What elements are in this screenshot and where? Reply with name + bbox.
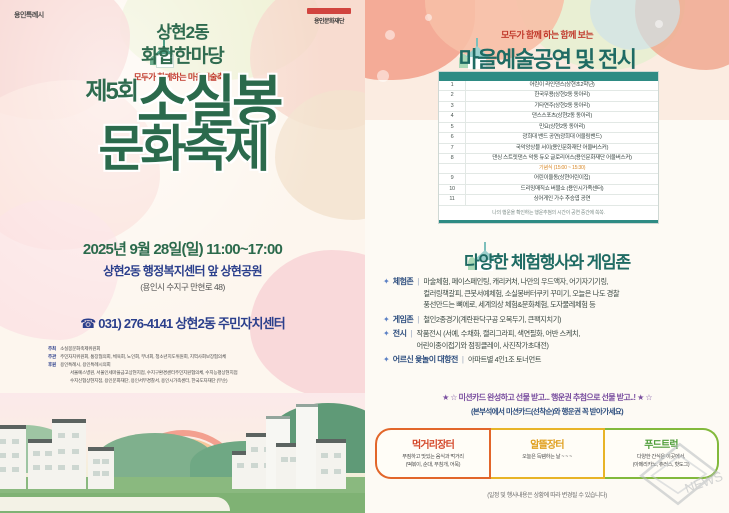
program-table: 1어린이 라인댄스(상현초2학년) 2한국무용(상현2동 동아리) 3기타연주(…	[438, 71, 659, 224]
banner-flea-market: 알뜰장터 오늘은 득템하는 날 ~ ~ ~	[491, 428, 605, 479]
list-item: ✦ 게임존 | 철인2종경기(계란판닥구공 오목두기, 큰팩지치기)	[383, 314, 717, 326]
section-title-experience: 다양한 체험행사와 게임존	[365, 248, 729, 273]
list-item: ✦ 체험존 | 마술체험, 페이스페인팅, 캐리커처, 나만의 우드액자, 어기…	[383, 276, 717, 311]
credit-row: 후원용인특례시, 용인특례시의회	[48, 361, 338, 369]
event-address: (용인시 수지구 만현로 48)	[0, 281, 365, 293]
credit-extra-line: 수지신협상현지점, 용인문화재단, 용인서부경찰서, 용인시가족센터, 한국도자…	[70, 377, 338, 385]
left-subtitle-line2: 화합한마당	[0, 41, 365, 68]
credit-extra-line: 서울예스병원, 서울인세마을금고상현지점, 수지구환경센터주민지원협의체, 수지…	[70, 369, 338, 377]
event-place: 상현2동 행정복지센터 앞 상현공원	[0, 262, 365, 279]
table-row: 9어린이율동(상현어린이집)	[439, 174, 658, 184]
list-item: ✦ 어르신 윷놀이 대항전 | 아파트별 4인1조 토너먼트	[383, 354, 717, 366]
table-row: 8댄싱 스트릿댄스 악동 듀오 글로리어스(용인문화재단 어울버스커)	[439, 153, 658, 163]
credit-row: 주관주민자치위원회, 통장협의회, 체육회, 노인회, 부녀회, 청소년지도위원…	[48, 353, 338, 361]
banner-title: 알뜰장터	[493, 436, 601, 451]
title-line2: 문화축제	[0, 124, 365, 174]
banner-title: 먹거리장터	[379, 436, 487, 451]
table-row: 10드리밍매직쇼 버블쇼 (용인시가족센터)	[439, 184, 658, 194]
right-poster: 모두가 함께 하는 함께 보는 마을예술공연 및 전시 1어린이 라인댄스(상현…	[365, 0, 729, 513]
table-row: 11싱어게인 가수 추승엽 공연	[439, 195, 658, 205]
mission-line2: (본부석에서 미션카드(선착순)와 행운권 꼭 받아가세요)	[365, 406, 729, 417]
list-item: ✦ 전시 | 작품전시 (서예, 수채화, 캘리그라피, 색연필화, 어반 스케…	[383, 328, 717, 351]
left-subtitle-line1: 상현2동	[0, 18, 365, 43]
right-header-subtitle: 모두가 함께 하는 함께 보는	[365, 28, 729, 41]
separator-icon: |	[417, 276, 419, 287]
ceremony-note-row: 기념식 (15:00 ~ 15:30)	[439, 164, 658, 174]
program-table-footer-bar	[439, 220, 658, 223]
right-header-title: 마을예술공연 및 전시	[365, 42, 729, 74]
separator-icon: |	[417, 314, 419, 325]
diamond-bullet-icon: ✦	[383, 328, 390, 339]
credit-row: 주최소실봉문화축제위원회	[48, 345, 338, 353]
program-table-body: 1어린이 라인댄스(상현초2학년) 2한국무용(상현2동 동아리) 3기타연주(…	[439, 81, 658, 205]
diamond-bullet-icon: ✦	[383, 314, 390, 325]
edition-label: 제5회	[85, 80, 137, 104]
event-date: 2025년 9월 28일(일) 11:00~17:00	[0, 238, 365, 259]
left-main-title: 제5회소실봉 문화축제	[0, 74, 365, 174]
table-row: 6광희대 밴드 공연(광희대 어울림밴드)	[439, 133, 658, 143]
table-row: 4댄스스포츠(상현2동 동아리)	[439, 112, 658, 122]
logo-bar	[307, 8, 351, 14]
mission-note: ★ ☆ 미션카드 완성하고 선물 받고... 행운권 추첨으로 선물 받고..!…	[365, 392, 729, 417]
table-row: 7국악앙상블 서이(용인문화재단 어울버스커)	[439, 143, 658, 153]
event-details: 2025년 9월 28일(일) 11:00~17:00 상현2동 행정복지센터 …	[0, 238, 365, 293]
banner-food-market: 먹거리장터 푸짐하고 맛있는 음식과 먹거리 (떡볶이, 순대, 부침개, 어묵…	[375, 428, 491, 479]
program-table-header-bar	[439, 72, 658, 81]
mission-line1: ★ ☆ 미션카드 완성하고 선물 받고... 행운권 추첨으로 선물 받고..!…	[365, 392, 729, 403]
table-row: 3기타연주(상현2동 동아리)	[439, 101, 658, 111]
table-row: 1어린이 라인댄스(상현초2학년)	[439, 81, 658, 91]
experience-list: ✦ 체험존 | 마술체험, 페이스페인팅, 캐리커처, 나만의 우드액자, 어기…	[383, 276, 717, 369]
separator-icon: |	[462, 354, 464, 365]
banner-desc: 푸짐하고 맛있는 음식과 먹거리 (떡볶이, 순대, 부침개, 어묵)	[379, 454, 487, 470]
credits-block: 주최소실봉문화축제위원회 주관주민자치위원회, 통장협의회, 체육회, 노인회,…	[48, 345, 338, 385]
left-poster: 용인특례시 용인문화재단 상현2동 화합한마당 모두가 함께하는 마을예술축제 …	[0, 0, 365, 513]
contact-phone: ☎ 031) 276-4141 상현2동 주민자치센터	[0, 313, 365, 332]
news-watermark-icon: NEWS	[633, 439, 723, 509]
table-row: 2한국무용(상현2동 동아리)	[439, 91, 658, 101]
table-row: 5민요(상현2동 동아리)	[439, 122, 658, 132]
program-footnote: 나의 행운을 확인하는 행운추첨의 시간이 공연 중간에 쏙쏙.	[439, 206, 658, 220]
diamond-bullet-icon: ✦	[383, 354, 390, 365]
village-illustration	[0, 393, 365, 513]
diamond-bullet-icon: ✦	[383, 276, 390, 287]
poster-page: 용인특례시 용인문화재단 상현2동 화합한마당 모두가 함께하는 마을예술축제 …	[0, 0, 729, 513]
banner-desc: 오늘은 득템하는 날 ~ ~ ~	[493, 454, 601, 462]
separator-icon: |	[410, 328, 412, 339]
